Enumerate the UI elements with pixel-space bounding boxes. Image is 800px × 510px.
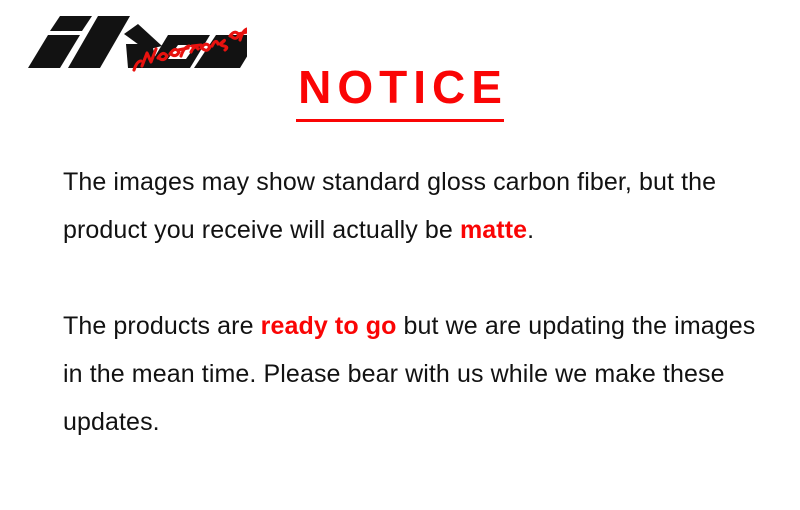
notice-heading-block: NOTICE — [0, 62, 800, 122]
paragraph-2-emphasis-ready-to-go: ready to go — [261, 312, 397, 340]
notice-paragraph-1: The images may show standard gloss carbo… — [63, 158, 763, 254]
paragraph-1-emphasis-matte: matte — [460, 216, 527, 244]
notice-body: The images may show standard gloss carbo… — [63, 158, 763, 446]
title-underline-rule — [296, 119, 504, 122]
paragraph-1-text-tail: . — [527, 216, 534, 244]
paragraph-1-text-lead: The images may show standard gloss carbo… — [63, 168, 716, 244]
page-title: NOTICE — [290, 62, 510, 115]
paragraph-2-text-lead: The products are — [63, 312, 261, 340]
notice-paragraph-2: The products are ready to go but we are … — [63, 302, 763, 446]
